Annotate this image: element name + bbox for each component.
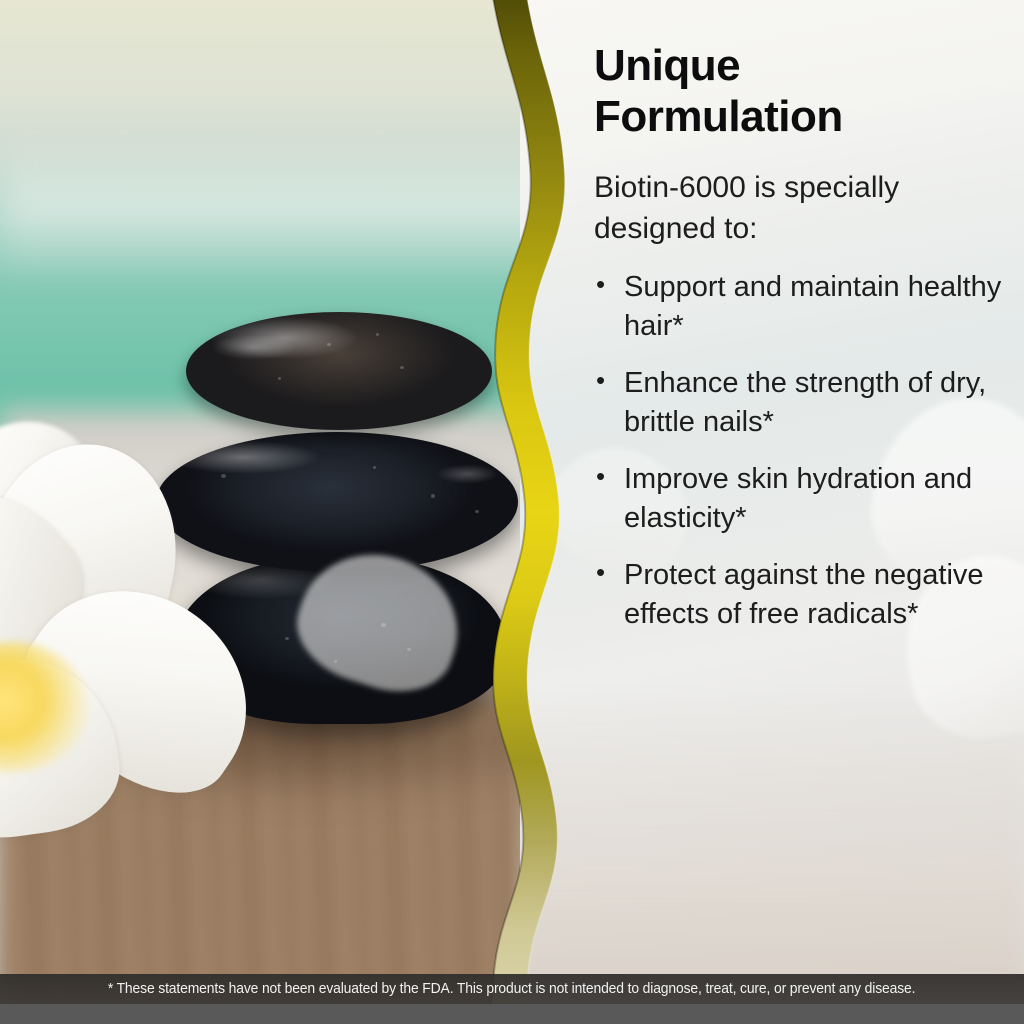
product-benefit-graphic: Unique Formulation Biotin-6000 is specia… xyxy=(0,0,1024,1024)
list-item: Improve skin hydration and elasticity* xyxy=(594,460,1004,539)
page-title: Unique Formulation xyxy=(594,40,994,142)
horizon-haze xyxy=(0,140,566,280)
spa-photo-panel xyxy=(0,0,566,1024)
disclaimer-bar: * These statements have not been evaluat… xyxy=(0,974,1024,1004)
list-item: Protect against the negative effects of … xyxy=(594,556,1004,635)
list-item: Enhance the strength of dry, brittle nai… xyxy=(594,364,1004,443)
intro-text: Biotin-6000 is specially designed to: xyxy=(594,168,989,250)
bottom-strip xyxy=(0,1004,1024,1024)
benefits-text-panel: Unique Formulation Biotin-6000 is specia… xyxy=(520,0,1024,1024)
fda-disclaimer: * These statements have not been evaluat… xyxy=(108,981,916,997)
stone-top xyxy=(186,312,492,430)
benefits-list: Support and maintain healthy hair* Enhan… xyxy=(594,268,1004,652)
list-item: Support and maintain healthy hair* xyxy=(594,268,1004,347)
white-frangipani-flower xyxy=(0,430,310,820)
